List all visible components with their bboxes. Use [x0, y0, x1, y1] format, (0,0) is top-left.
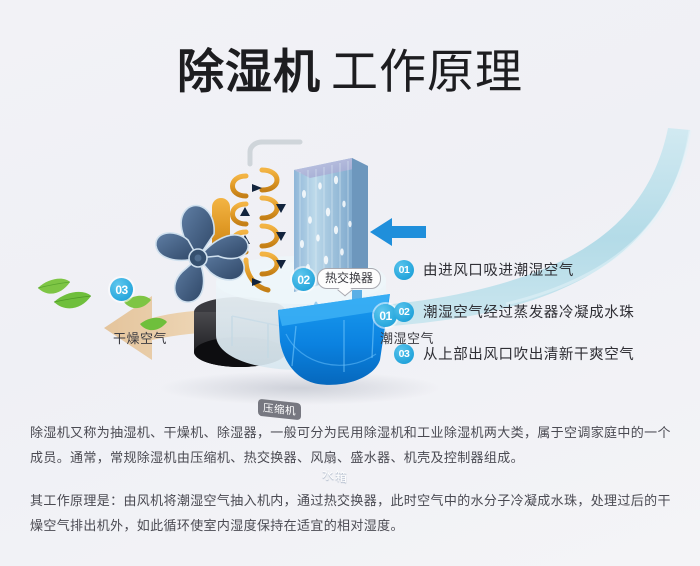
page-title: 除湿机工作原理	[0, 33, 700, 102]
legend-item: 02 潮湿空气经过蒸发器冷凝成水珠	[394, 295, 634, 328]
legend-badge-03: 03	[394, 344, 414, 364]
tag-compressor: 压缩机	[258, 399, 301, 421]
legend-text-01: 由进风口吸进潮湿空气	[423, 259, 574, 280]
title-secondary: 工作原理	[331, 45, 523, 98]
infographic-stage: 除湿机工作原理	[0, 0, 700, 566]
paragraph-definition: 除湿机又称为抽湿机、干燥机、除湿器，一般可分为民用除湿机和工业除湿机两大类，属于…	[30, 420, 675, 470]
legend-text-03: 从上部出风口吹出清新干爽空气	[423, 343, 634, 364]
label-dry-air: 干燥空气	[113, 328, 167, 347]
badge-02-heat-exchanger: 02	[292, 268, 315, 291]
legend-text-02: 潮湿空气经过蒸发器冷凝成水珠	[423, 301, 634, 322]
legend-item: 03 从上部出风口吹出清新干爽空气	[394, 337, 634, 370]
title-primary: 除湿机	[177, 45, 321, 98]
paragraph-principle: 其工作原理是：由风机将潮湿空气抽入机内，通过热交换器，此时空气中的水分子冷凝成水…	[30, 488, 675, 538]
process-legend: 01 由进风口吸进潮湿空气 02 潮湿空气经过蒸发器冷凝成水珠 03 从上部出风…	[394, 253, 634, 379]
callout-heat-exchanger: 热交换器	[317, 268, 381, 289]
description-block: 除湿机又称为抽湿机、干燥机、除湿器，一般可分为民用除湿机和工业除湿机两大类，属于…	[30, 420, 675, 538]
legend-badge-01: 01	[394, 260, 414, 280]
legend-badge-02: 02	[394, 302, 414, 322]
badge-03-dry-air: 03	[110, 278, 133, 301]
legend-item: 01 由进风口吸进潮湿空气	[394, 253, 634, 286]
